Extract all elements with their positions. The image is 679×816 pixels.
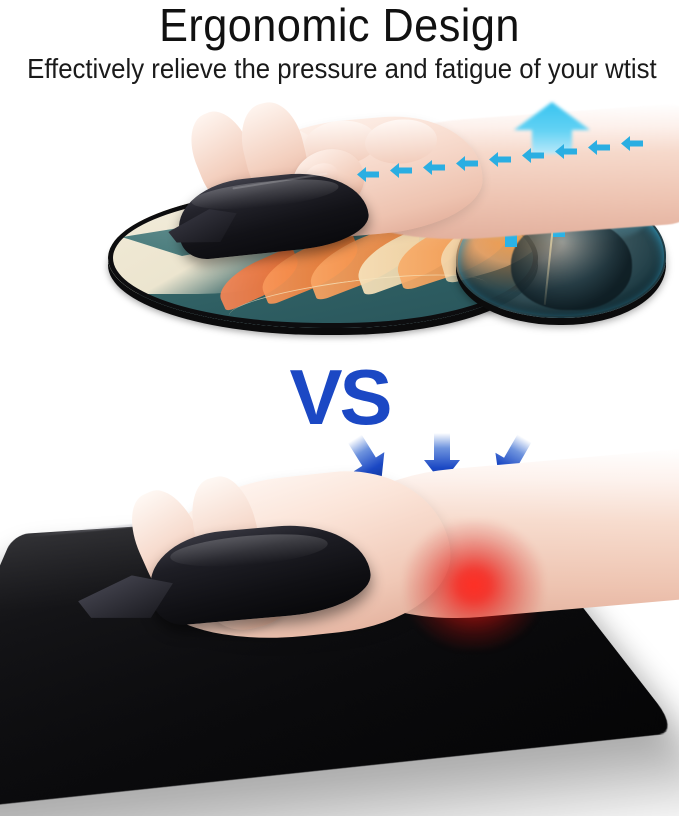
marketing-image-stage: Ergonomic Design Effectively relieve the… bbox=[0, 0, 679, 680]
ergonomic-pad-scene bbox=[0, 92, 679, 352]
vs-label: VS bbox=[0, 358, 679, 436]
arrow-left-icon bbox=[521, 147, 545, 164]
arrow-left-icon bbox=[587, 139, 611, 156]
arrow-left-icon bbox=[455, 155, 479, 172]
page-title: Ergonomic Design bbox=[20, 2, 658, 48]
arrow-left-icon bbox=[356, 166, 380, 183]
arrow-left-icon bbox=[620, 135, 644, 152]
wrist-pressure-point bbox=[404, 520, 544, 650]
arrow-left-icon bbox=[554, 143, 578, 160]
arrow-left-icon bbox=[488, 151, 512, 168]
flat-pad-scene bbox=[0, 470, 679, 680]
arrow-left-icon bbox=[422, 159, 446, 176]
page-subtitle: Effectively relieve the pressure and fat… bbox=[27, 54, 652, 84]
arrow-left-icon bbox=[389, 162, 413, 179]
